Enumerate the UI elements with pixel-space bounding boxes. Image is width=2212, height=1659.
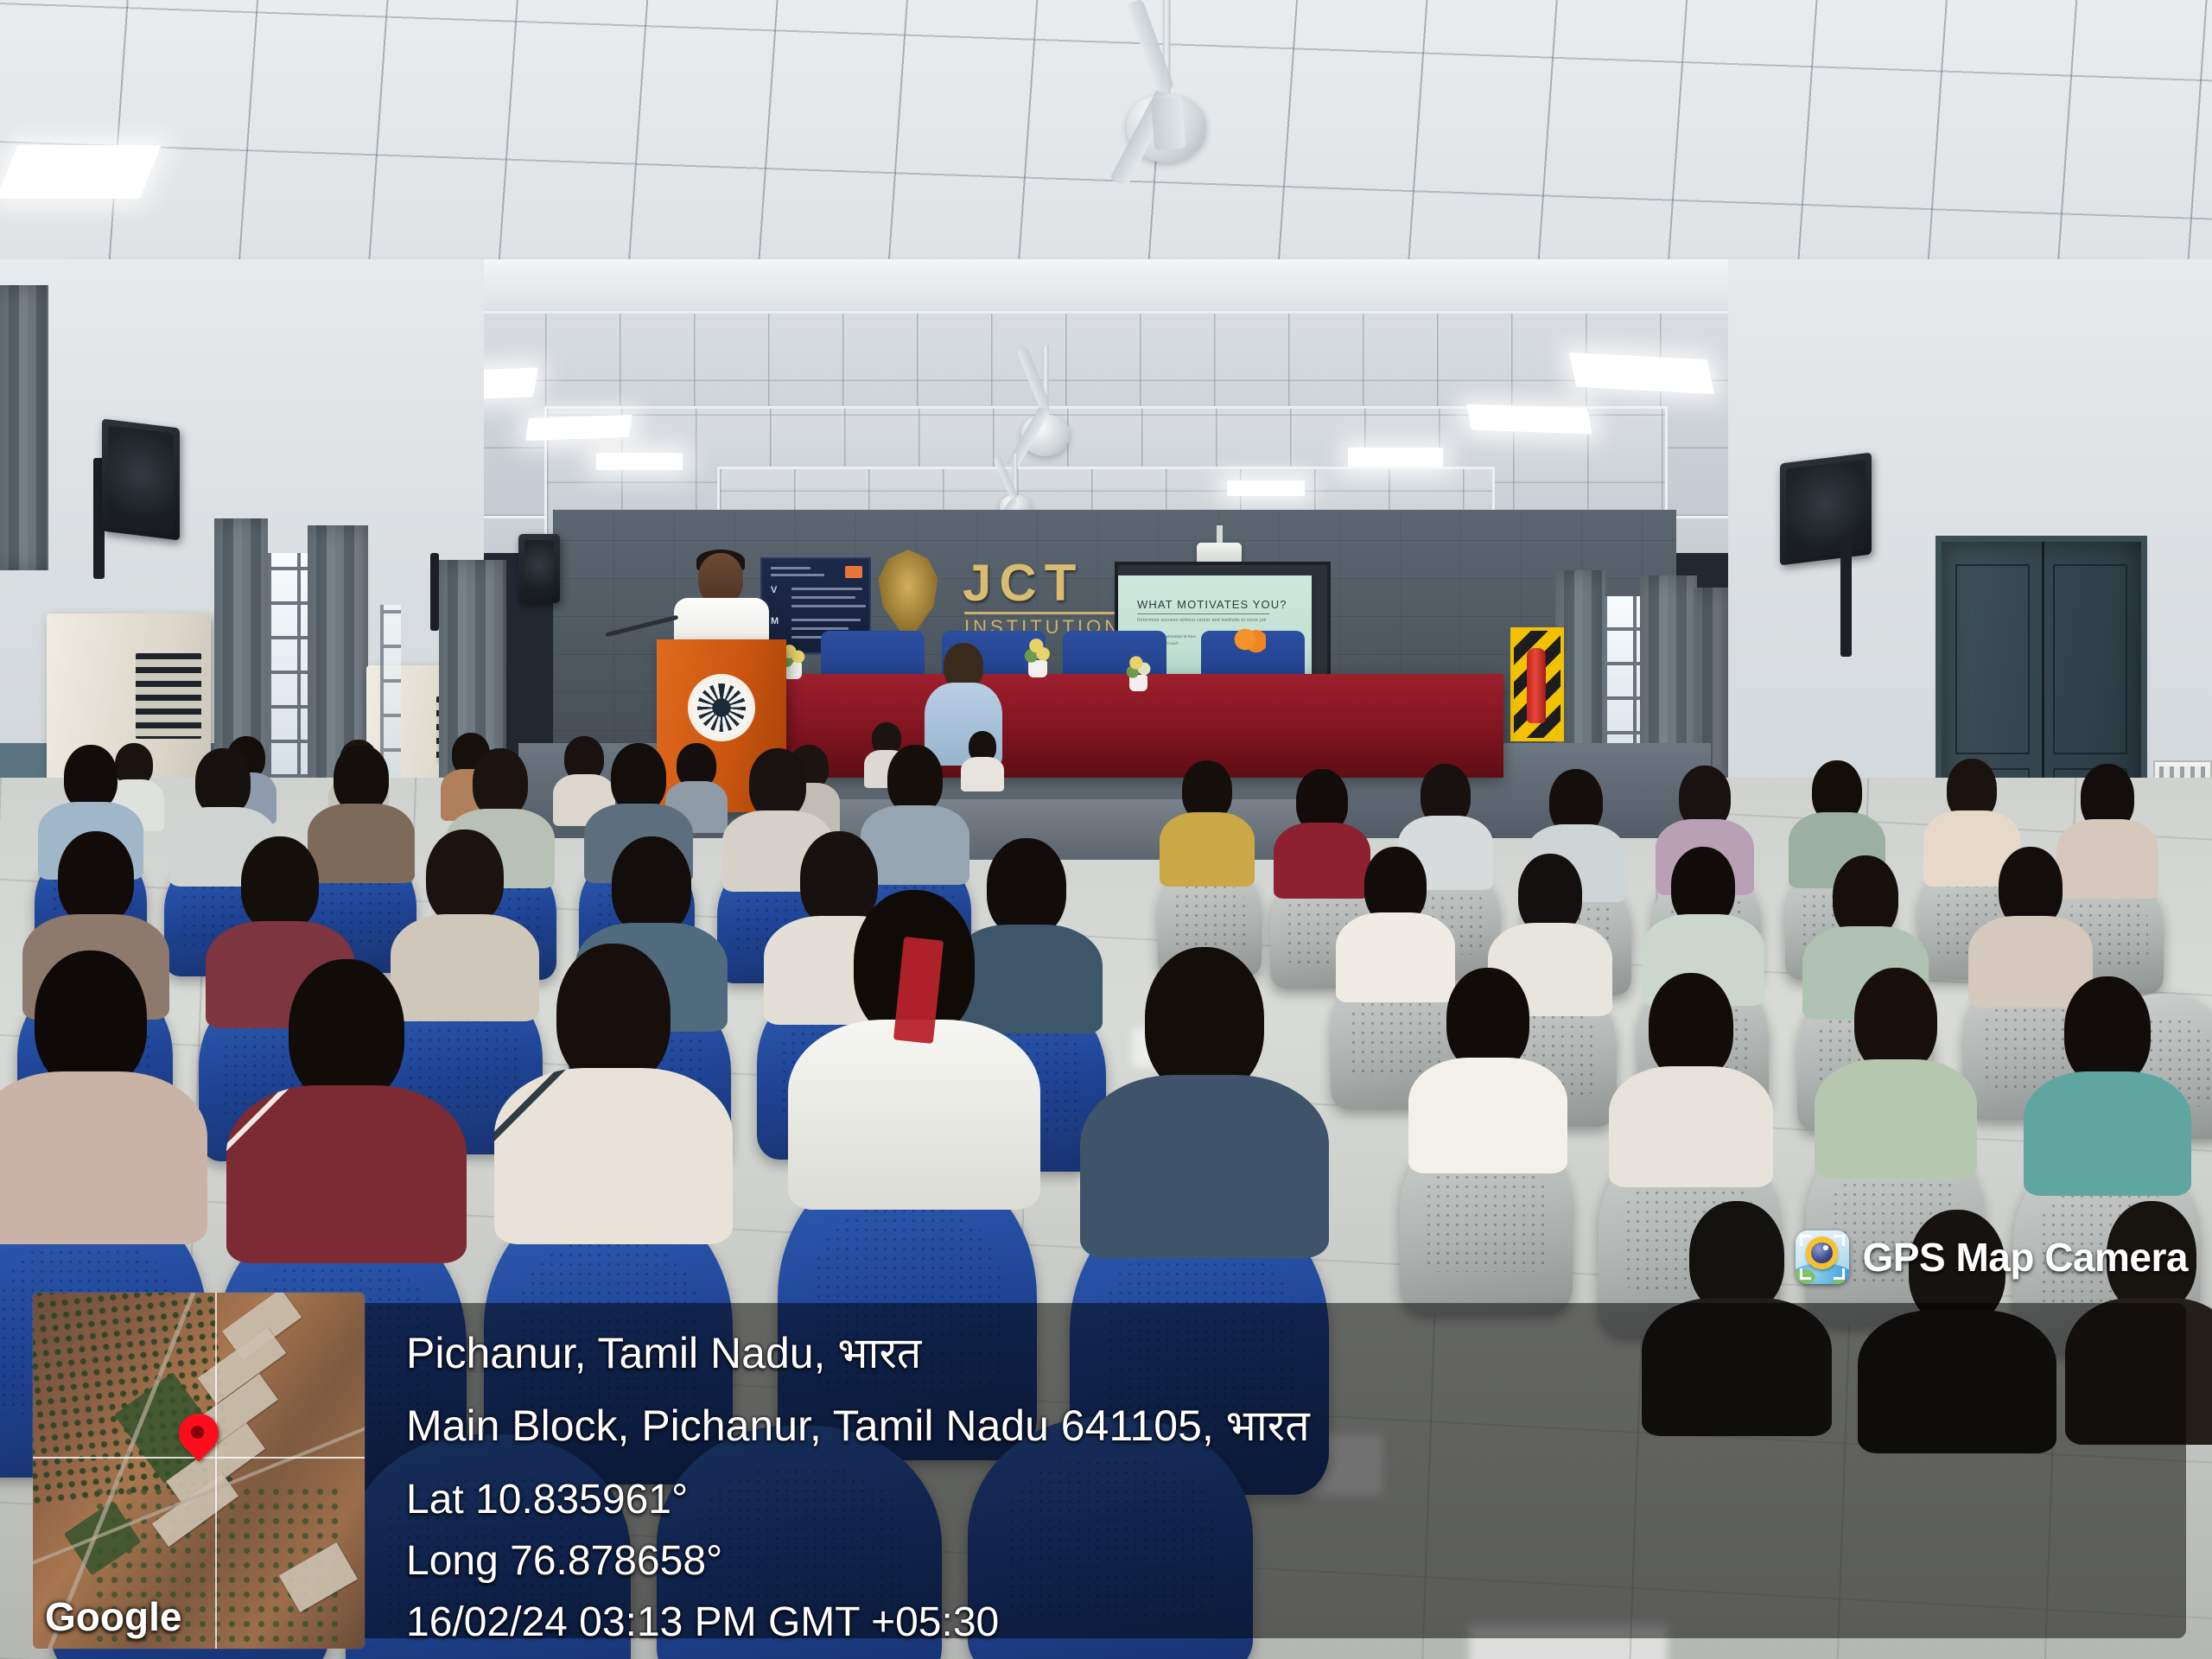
audience-member [788,890,1040,1201]
photograph-canvas: V M JCT INSTITUTIONS WHAT MOTIVATES YOU?… [0,0,2212,1659]
audience-member [0,950,207,1236]
audience-member [2024,976,2191,1189]
gps-longitude-line: Long 76.878658° [406,1537,2186,1585]
audience-member [226,959,467,1253]
google-watermark: Google [45,1593,181,1640]
gps-latitude-line: Lat 10.835961° [406,1476,2186,1523]
audience-member [494,944,733,1234]
gps-map-camera-brand-label: GPS Map Camera [1863,1234,2188,1281]
gps-map-camera-app-icon [1796,1230,1849,1284]
gps-info-block: Pichanur, Tamil Nadu, भारत Main Block, P… [365,1303,2186,1638]
gps-place-line: Pichanur, Tamil Nadu, भारत [406,1322,2186,1381]
audience-member [1160,760,1255,881]
gps-stamp-panel: Google Pichanur, Tamil Nadu, भारत Main B… [43,1303,2186,1638]
audience-member [1609,973,1773,1180]
audience-member [1408,968,1567,1166]
audience-member [1080,947,1329,1249]
audience-member [1815,968,1977,1172]
gps-map-camera-branding: GPS Map Camera [1796,1230,2188,1284]
gps-datetime-line: 16/02/24 03:13 PM GMT +05:30 [406,1599,2186,1646]
gps-map-thumbnail: Google [33,1293,365,1649]
gps-address-line: Main Block, Pichanur, Tamil Nadu 641105,… [406,1395,2186,1453]
